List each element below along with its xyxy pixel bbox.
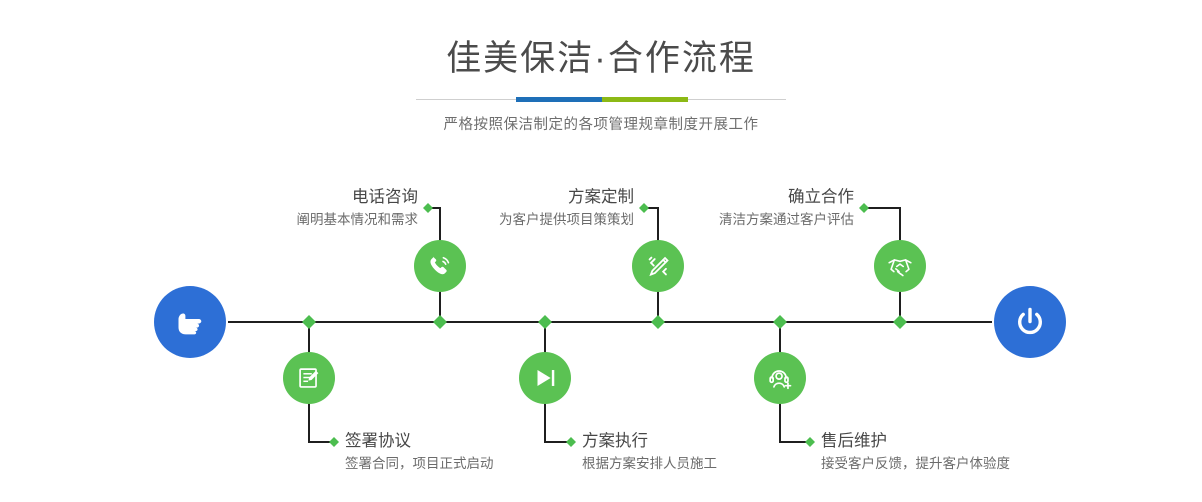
spine-diamond-5: [773, 315, 787, 329]
handshake-icon: [885, 251, 915, 281]
step-label-6: 售后维护 接受客户反馈，提升客户体验度: [821, 430, 1161, 474]
step-title-5: 确立合作: [554, 186, 854, 208]
flow-connectors: [0, 0, 1202, 502]
pointing-hand-icon: [170, 302, 210, 342]
spine-diamond-1: [302, 315, 316, 329]
flow-end-node[interactable]: [994, 286, 1066, 358]
step-node-1[interactable]: [414, 240, 466, 292]
label-diamond-step-5: [859, 203, 869, 213]
step-desc-6: 接受客户反馈，提升客户体验度: [821, 454, 1161, 474]
spine-diamond-6: [893, 315, 907, 329]
phone-call-icon: [425, 251, 455, 281]
power-icon: [1010, 302, 1050, 342]
label-diamond-step-2: [329, 437, 339, 447]
step-node-3[interactable]: [632, 240, 684, 292]
label-diamond-markers: [329, 203, 869, 447]
step-node-5[interactable]: [874, 240, 926, 292]
document-edit-icon: [294, 363, 324, 393]
flow-start-node[interactable]: [154, 286, 226, 358]
process-flow-diagram: 电话咨询 阐明基本情况和需求 方案定制 为客户提供项目策策划 确立合作 清洁方案…: [0, 0, 1202, 502]
step-title-6: 售后维护: [821, 430, 1161, 452]
step-label-5: 确立合作 清洁方案通过客户评估: [554, 186, 854, 230]
step-node-4[interactable]: [519, 352, 571, 404]
play-skip-icon: [530, 363, 560, 393]
step-node-2[interactable]: [283, 352, 335, 404]
pencil-design-icon: [643, 251, 673, 281]
spine-diamond-4: [651, 315, 665, 329]
step-node-6[interactable]: [754, 352, 806, 404]
customer-support-add-icon: [765, 363, 795, 393]
step-desc-5: 清洁方案通过客户评估: [554, 210, 854, 230]
spine-diamond-2: [433, 315, 447, 329]
flow-infographic: 佳美保洁·合作流程 严格按照保洁制定的各项管理规章制度开展工作: [0, 0, 1202, 502]
spine-diamond-3: [538, 315, 552, 329]
